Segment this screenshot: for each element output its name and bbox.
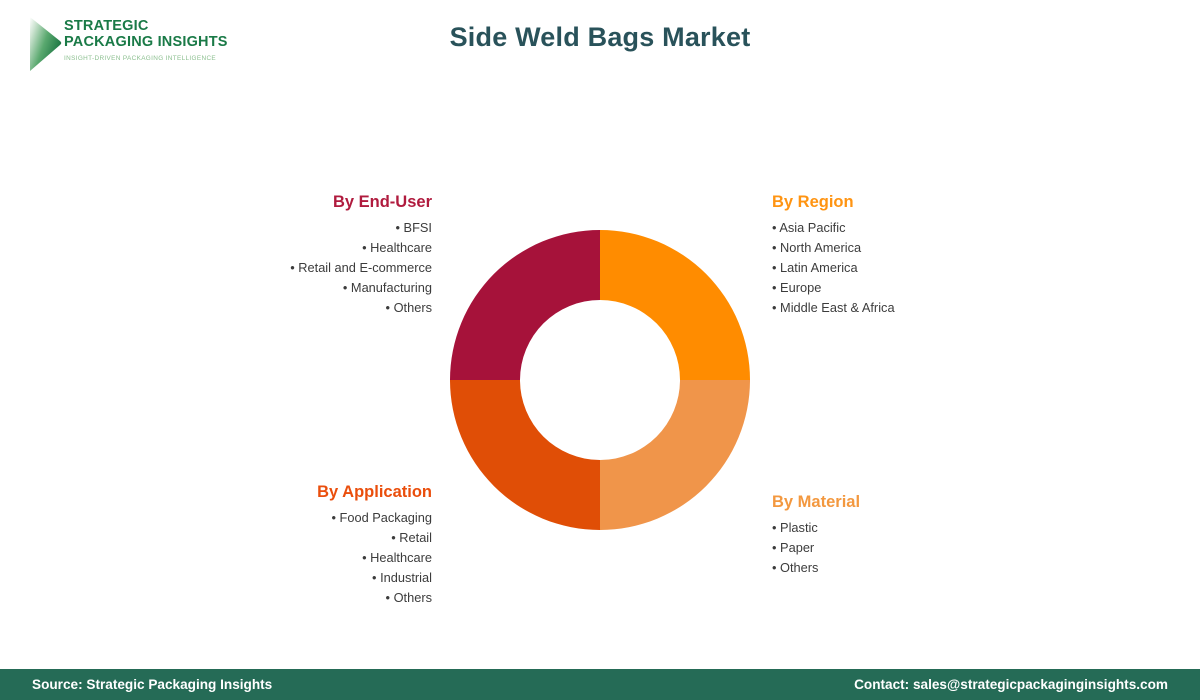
list-item-label: Others bbox=[780, 560, 818, 575]
list-item-label: Retail and E-commerce bbox=[298, 260, 432, 275]
segment-region-list: • Asia Pacific • North America • Latin A… bbox=[772, 218, 1032, 318]
page-title: Side Weld Bags Market bbox=[0, 22, 1200, 53]
segment-material-title: By Material bbox=[772, 493, 1012, 512]
list-item-label: Healthcare bbox=[370, 550, 432, 565]
segment-application: By Application • Food Packaging • Retail… bbox=[218, 483, 432, 608]
donut-slice-end-user[interactable] bbox=[450, 230, 600, 380]
list-item-label: North America bbox=[780, 240, 861, 255]
list-item: • Healthcare bbox=[220, 238, 432, 258]
list-item: • Healthcare bbox=[218, 548, 432, 568]
segment-end-user-list: • BFSI • Healthcare • Retail and E-comme… bbox=[220, 218, 432, 318]
list-item-label: Others bbox=[394, 300, 432, 315]
list-item: • BFSI bbox=[220, 218, 432, 238]
donut-slice-application[interactable] bbox=[450, 380, 600, 530]
segment-region: By Region • Asia Pacific • North America… bbox=[772, 193, 1032, 318]
list-item: • Others bbox=[772, 558, 1012, 578]
donut-chart bbox=[450, 230, 750, 530]
list-item: • Industrial bbox=[218, 568, 432, 588]
list-item: • Retail and E-commerce bbox=[220, 258, 432, 278]
segment-material-list: • Plastic • Paper • Others bbox=[772, 518, 1012, 578]
segment-end-user: By End-User • BFSI • Healthcare • Retail… bbox=[220, 193, 432, 318]
list-item-label: Europe bbox=[780, 280, 821, 295]
list-item-label: Healthcare bbox=[370, 240, 432, 255]
list-item-label: Industrial bbox=[380, 570, 432, 585]
list-item-label: BFSI bbox=[404, 220, 432, 235]
list-item: • North America bbox=[772, 238, 1032, 258]
list-item-label: Paper bbox=[780, 540, 814, 555]
list-item: • Others bbox=[218, 588, 432, 608]
footer-contact: Contact: sales@strategicpackaginginsight… bbox=[854, 677, 1168, 692]
list-item: • Middle East & Africa bbox=[772, 298, 1032, 318]
segment-application-title: By Application bbox=[218, 483, 432, 502]
list-item-label: Asia Pacific bbox=[779, 220, 845, 235]
segment-region-title: By Region bbox=[772, 193, 1032, 212]
list-item: • Asia Pacific bbox=[772, 218, 1032, 238]
list-item: • Latin America bbox=[772, 258, 1032, 278]
list-item: • Others bbox=[220, 298, 432, 318]
list-item-label: Manufacturing bbox=[351, 280, 432, 295]
list-item: • Paper bbox=[772, 538, 1012, 558]
list-item-label: Latin America bbox=[780, 260, 858, 275]
list-item: • Europe bbox=[772, 278, 1032, 298]
logo-tagline: INSIGHT-DRIVEN PACKAGING INTELLIGENCE bbox=[64, 55, 228, 62]
donut-slice-material[interactable] bbox=[600, 380, 750, 530]
segment-application-list: • Food Packaging • Retail • Healthcare •… bbox=[218, 508, 432, 608]
list-item-label: Food Packaging bbox=[340, 510, 432, 525]
list-item-label: Plastic bbox=[780, 520, 818, 535]
list-item: • Food Packaging bbox=[218, 508, 432, 528]
segment-end-user-title: By End-User bbox=[220, 193, 432, 212]
footer-source: Source: Strategic Packaging Insights bbox=[32, 677, 272, 692]
list-item: • Plastic bbox=[772, 518, 1012, 538]
list-item: • Retail bbox=[218, 528, 432, 548]
donut-slice-region[interactable] bbox=[600, 230, 750, 380]
donut-chart-svg bbox=[450, 230, 750, 530]
list-item-label: Others bbox=[394, 590, 432, 605]
list-item-label: Retail bbox=[399, 530, 432, 545]
list-item: • Manufacturing bbox=[220, 278, 432, 298]
footer-bar: Source: Strategic Packaging Insights Con… bbox=[0, 669, 1200, 700]
list-item-label: Middle East & Africa bbox=[780, 300, 895, 315]
segment-material: By Material • Plastic • Paper • Others bbox=[772, 493, 1012, 578]
